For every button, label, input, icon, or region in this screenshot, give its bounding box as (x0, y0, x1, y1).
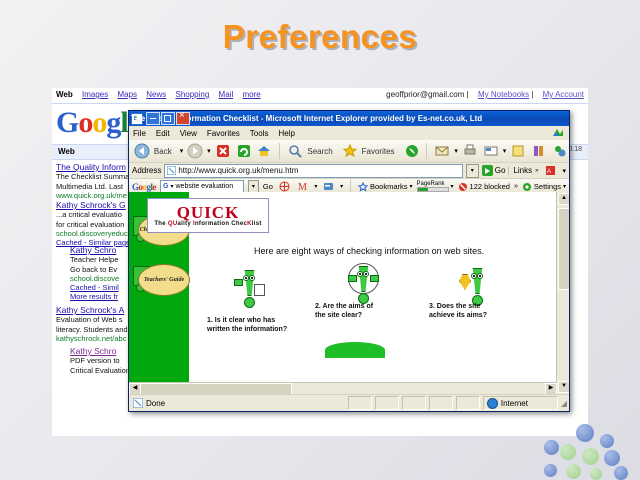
status-left: Done (131, 398, 345, 408)
go-button[interactable]: Go (482, 165, 506, 176)
menu-favorites[interactable]: Favorites (207, 129, 240, 138)
stop-icon[interactable] (214, 142, 232, 160)
nav-item-more[interactable]: more (242, 90, 260, 99)
menu-edit[interactable]: Edit (156, 129, 170, 138)
bookmarks-button[interactable]: Bookmarks ▾ (358, 182, 413, 192)
result-more-link[interactable]: More results fr (70, 292, 118, 301)
sidebar-item-teachers-guide[interactable]: Teachers' Guide (138, 264, 190, 296)
result-snippet-line2: Multimedia Ltd. Last (56, 182, 123, 191)
messenger-icon[interactable] (551, 142, 569, 160)
account-email: geoffprior@gmail.com (386, 90, 464, 99)
maximize-button[interactable] (161, 112, 175, 125)
favorites-star-icon[interactable] (341, 142, 359, 160)
search-label[interactable]: Search (307, 147, 332, 156)
research-icon[interactable] (530, 142, 548, 160)
window-controls (146, 112, 190, 125)
page-vertical-scrollbar[interactable]: ▲ ▼ (556, 192, 569, 394)
edit-dropdown-icon[interactable]: ▾ (503, 147, 507, 155)
gtoolbar-overflow-icon[interactable]: » (514, 183, 518, 190)
scroll-right-icon[interactable]: ▶ (545, 383, 557, 394)
address-dropdown-icon[interactable]: ▾ (466, 164, 479, 178)
status-bar: Done Internet ◢ (129, 394, 569, 411)
logo-letter-o1: o (78, 106, 92, 139)
media-icon[interactable] (403, 142, 421, 160)
quick-logo-sub: The QUality Information ChecKlist (154, 221, 261, 227)
quick-logo: QUICK The QUality Information ChecKlist (147, 198, 269, 233)
back-label[interactable]: Back (154, 147, 172, 156)
branding-logo-icon (551, 127, 565, 139)
gmail-dropdown-icon[interactable]: ▾ (314, 183, 317, 190)
back-dropdown-icon[interactable]: ▾ (180, 147, 184, 155)
refresh-icon[interactable] (235, 142, 253, 160)
result-snippet-line2: for critical evaluation (56, 220, 124, 229)
nav-item-shopping[interactable]: Shopping (176, 90, 210, 99)
character-2-icon (351, 266, 375, 300)
page-icon (167, 166, 176, 175)
logo-letter-g2: g (106, 106, 120, 139)
result-url: kathyschrock.net/abc (56, 334, 126, 343)
nav-item-mail[interactable]: Mail (219, 90, 234, 99)
forward-icon[interactable] (186, 142, 204, 160)
internet-explorer-window[interactable]: The Quality Information Checklist - Micr… (128, 110, 570, 412)
result-snippet-line1: ...a critical evaluatio (56, 210, 122, 219)
address-input[interactable]: http://www.quick.org.uk/menu.htm (164, 164, 462, 178)
result-snippet-line1: Teacher Helpe (70, 255, 118, 264)
google-top-nav: Web Images Maps News Shopping Mail more … (52, 88, 588, 102)
minimize-button[interactable] (146, 112, 160, 125)
logo-letter-g: G (56, 106, 78, 139)
nav-item-images[interactable]: Images (82, 90, 108, 99)
pdf-icon[interactable]: A (541, 162, 559, 180)
result-snippet-line1: The Checklist Summa (56, 172, 129, 181)
google-g-icon: G (163, 183, 168, 190)
character-1-icon (237, 270, 261, 304)
back-icon[interactable] (133, 142, 151, 160)
search-icon[interactable] (286, 142, 304, 160)
logo-letter-o2: o (92, 106, 106, 139)
globe-icon (487, 398, 498, 409)
caption-2: 2. Are the aims of the site clear? (315, 302, 373, 320)
zone-label: Internet (501, 399, 528, 408)
blocked-count: 122 blocked (470, 182, 510, 191)
nav-item-news[interactable]: News (146, 90, 166, 99)
character-3-icon (465, 268, 489, 302)
result-cached-link[interactable]: Cached - Simil (70, 283, 119, 292)
google-logo: Googl (56, 108, 128, 138)
mail-icon[interactable] (433, 142, 451, 160)
pagerank-label: PageRank (417, 181, 449, 187)
toolbar-divider (279, 143, 280, 159)
popup-blocker-icon (458, 182, 468, 192)
vertical-scroll-thumb[interactable] (558, 208, 569, 290)
google-toolbar-logo: Google (132, 182, 156, 192)
home-icon[interactable] (256, 142, 274, 160)
pdf-dropdown-icon[interactable]: ▾ (562, 167, 566, 175)
scroll-up-icon[interactable]: ▲ (558, 193, 569, 205)
web-page-content: Checklist Summary Teachers' Guide QUICK … (129, 192, 569, 394)
screenshot-composite: Web Images Maps News Shopping Mail more … (52, 88, 588, 436)
status-text: Done (146, 399, 165, 408)
settings-label: Settings (534, 182, 561, 191)
links-overflow-icon[interactable]: » (535, 168, 538, 174)
menu-file[interactable]: File (133, 129, 146, 138)
address-value: http://www.quick.org.uk/menu.htm (178, 166, 298, 175)
bookmark-star-icon (358, 182, 368, 192)
menu-view[interactable]: View (180, 129, 197, 138)
page-title: Preferences (0, 18, 640, 56)
result-url: www.quick.org.uk/me (56, 191, 127, 200)
autofill-dropdown-icon[interactable]: ▾ (340, 183, 343, 190)
menu-tools[interactable]: Tools (250, 129, 269, 138)
horizontal-scroll-thumb[interactable] (140, 383, 292, 394)
google-go-label[interactable]: Go (263, 182, 273, 191)
toolbar-divider (426, 143, 427, 159)
result-url: school.discove (70, 274, 119, 283)
svg-text:M: M (298, 182, 307, 192)
result-snippet-line2: literacy. Students and (56, 325, 128, 334)
nav-item-web[interactable]: Web (56, 90, 73, 99)
gear-icon (522, 182, 532, 192)
decorative-bubbles (542, 422, 638, 480)
pagerank-meter[interactable]: PageRank ▾ (417, 181, 454, 192)
result-url: school.discoveryeduc (56, 229, 128, 238)
go-label: Go (495, 166, 506, 175)
menu-bar: File Edit View Favorites Tools Help (129, 126, 569, 140)
forward-dropdown-icon[interactable]: ▾ (207, 147, 211, 155)
result-snippet-line1: PDF version to (70, 356, 120, 365)
mail-dropdown-icon[interactable]: ▾ (454, 147, 458, 155)
close-button[interactable] (176, 112, 190, 125)
tab-web[interactable]: Web (58, 147, 75, 156)
page-heading: Here are eight ways of checking informat… (254, 246, 484, 256)
quick-logo-main: QUICK (177, 204, 240, 221)
logo-letter-l: l (120, 106, 127, 139)
page-horizontal-scrollbar[interactable]: ◀ ▶ (129, 382, 557, 394)
print-icon[interactable] (461, 142, 479, 160)
status-page-icon (133, 398, 143, 408)
nav-item-maps[interactable]: Maps (117, 90, 137, 99)
character-4-label (325, 352, 385, 360)
resize-grip-icon[interactable]: ◢ (561, 399, 567, 408)
links-label[interactable]: Links (508, 166, 532, 175)
security-zone: Internet (483, 396, 558, 410)
my-notebooks-link[interactable]: My Notebooks (478, 90, 529, 99)
popup-blocker-button[interactable]: 122 blocked (458, 182, 510, 192)
result-snippet-line2: Go back to Ev (70, 265, 117, 274)
nav-divider (52, 103, 588, 104)
svg-text:A: A (547, 169, 551, 175)
google-query-value: website evaluation (176, 183, 234, 190)
caption-1: 1. Is it clear who has written the infor… (207, 316, 287, 334)
edit-icon[interactable] (482, 142, 500, 160)
address-label: Address (132, 166, 161, 175)
settings-button[interactable]: Settings ▾ (522, 182, 566, 192)
bookmarks-label: Bookmarks (370, 182, 408, 191)
notes-icon[interactable] (509, 142, 527, 160)
result-snippet-line1: Evaluation of Web s (56, 315, 123, 324)
ie-toolbar: Back ▾ ▾ Search Favorites (129, 140, 569, 163)
window-titlebar[interactable]: The Quality Information Checklist - Micr… (129, 111, 569, 126)
go-arrow-icon (482, 165, 493, 176)
caption-3: 3. Does the site achieve its aims? (429, 302, 487, 320)
menu-help[interactable]: Help (278, 129, 294, 138)
favorites-label[interactable]: Favorites (362, 147, 395, 156)
search-mode-dropdown-icon[interactable]: ▾ (170, 183, 173, 190)
address-bar: Address http://www.quick.org.uk/menu.htm… (129, 163, 569, 179)
scroll-down-icon[interactable]: ▼ (558, 381, 569, 393)
